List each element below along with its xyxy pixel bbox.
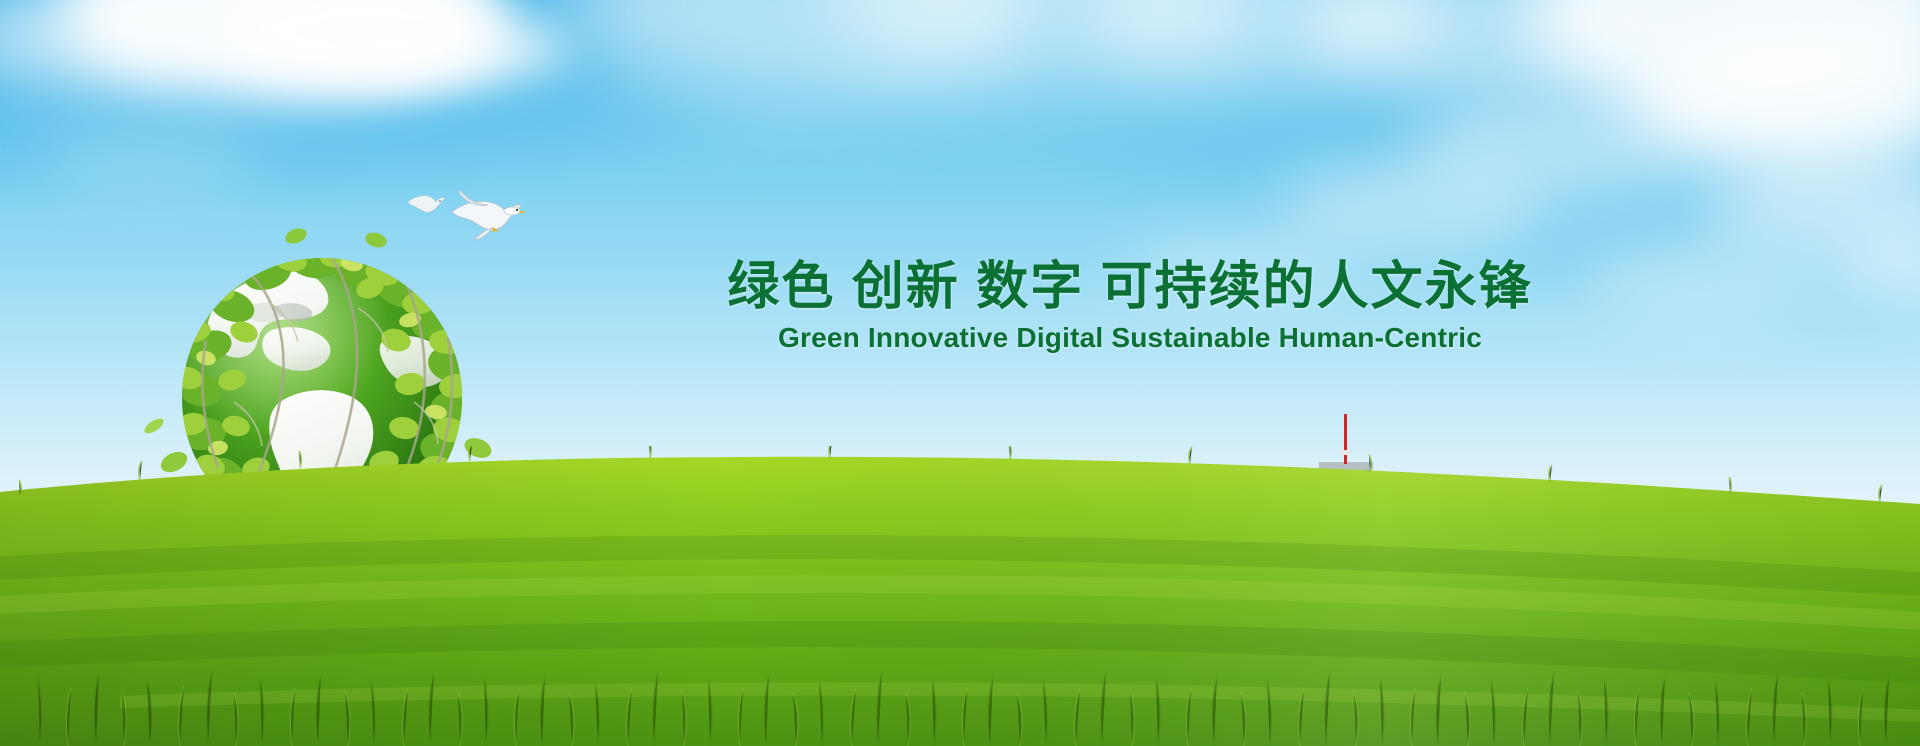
flying-seagulls (400, 160, 570, 260)
headline-chinese: 绿色 创新 数字 可持续的人文永锋 (680, 258, 1580, 316)
grass-field (0, 446, 1920, 746)
hero-banner: 绿色 创新 数字 可持续的人文永锋 Green Innovative Digit… (0, 0, 1920, 746)
headline-block: 绿色 创新 数字 可持续的人文永锋 Green Innovative Digit… (680, 258, 1580, 357)
headline-english: Green Innovative Digital Sustainable Hum… (680, 320, 1580, 356)
